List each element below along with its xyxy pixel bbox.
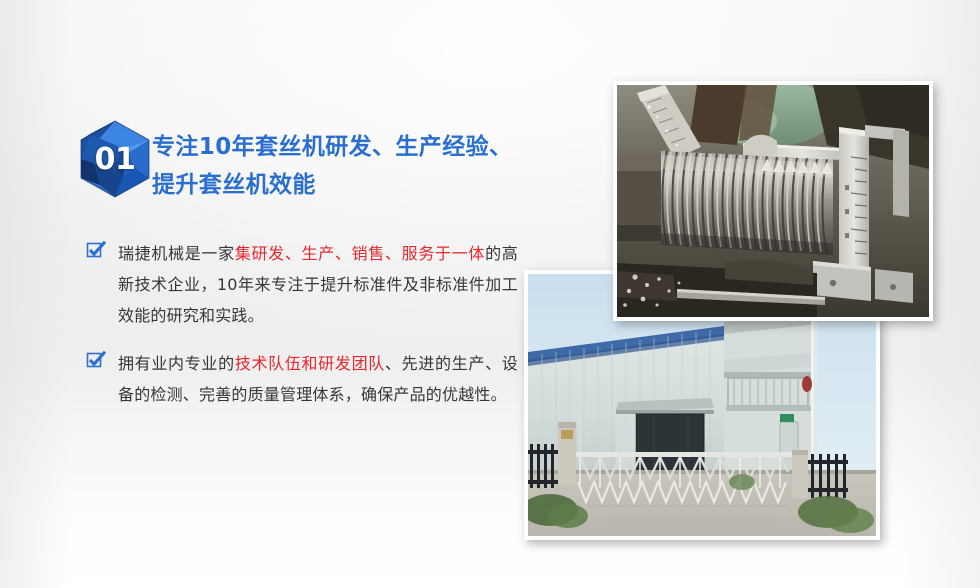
feature-text-highlight: 集研发、生产、销售、服务于一体 bbox=[235, 244, 485, 263]
feature-text: 拥有业内专业的技术队伍和研发团队、先进的生产、设备的检测、完善的质量管理体系，确… bbox=[118, 348, 518, 410]
feature-item: 拥有业内专业的技术队伍和研发团队、先进的生产、设备的检测、完善的质量管理体系，确… bbox=[86, 348, 518, 410]
badge-number-label: 01 bbox=[78, 119, 152, 199]
checkbox-check-icon bbox=[86, 350, 106, 370]
content-column: 01 专注10年套丝机研发、生产经验、 提升套丝机效能 瑞捷机械是一家集研发、生… bbox=[0, 0, 560, 588]
feature-text: 瑞捷机械是一家集研发、生产、销售、服务于一体的高新技术企业，10年来专注于提升标… bbox=[118, 238, 518, 331]
page-title: 专注10年套丝机研发、生产经验、 提升套丝机效能 bbox=[152, 128, 552, 204]
feature-text-part: 拥有业内专业的 bbox=[118, 354, 235, 373]
step-number-badge: 01 bbox=[78, 119, 152, 199]
feature-text-highlight: 技术队伍和研发团队 bbox=[235, 354, 385, 373]
threaded-rod-caliper-photo bbox=[613, 81, 933, 321]
feature-text-part: 瑞捷机械是一家 bbox=[118, 244, 235, 263]
promo-banner: 01 专注10年套丝机研发、生产经验、 提升套丝机效能 瑞捷机械是一家集研发、生… bbox=[0, 0, 980, 588]
title-line-1: 专注10年套丝机研发、生产经验、 bbox=[152, 128, 552, 166]
threaded-rod-illustration bbox=[617, 85, 929, 317]
title-line-2: 提升套丝机效能 bbox=[152, 166, 552, 204]
checkbox-check-icon bbox=[86, 240, 106, 260]
feature-item: 瑞捷机械是一家集研发、生产、销售、服务于一体的高新技术企业，10年来专注于提升标… bbox=[86, 238, 518, 331]
